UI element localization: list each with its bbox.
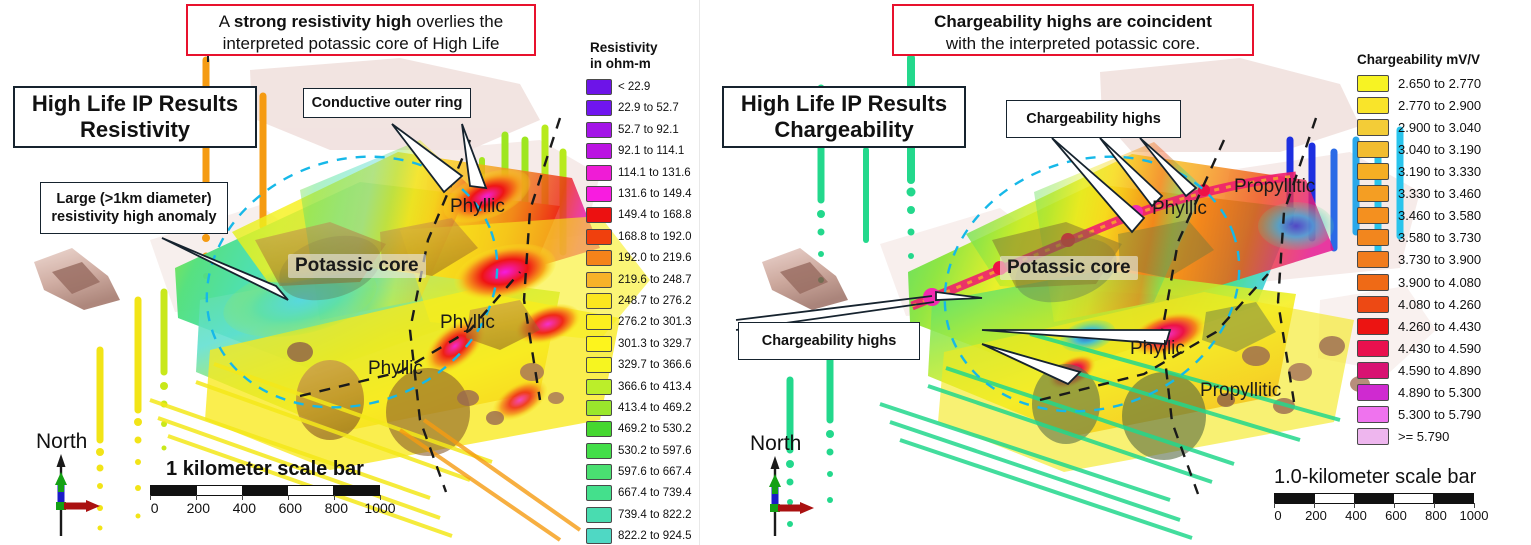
scene-label-propyllitic-upper: Propyllitic xyxy=(1234,176,1315,198)
scalebar-title: 1.0-kilometer scale bar xyxy=(1274,466,1474,489)
legend-swatch xyxy=(586,122,612,138)
legend-label: 192.0 to 219.6 xyxy=(618,252,692,264)
legend-row: 4.590 to 4.890 xyxy=(1357,359,1481,381)
scene-label-phyllic-mid: Phyllic xyxy=(440,312,495,334)
legend-title: Resistivity in ohm-m xyxy=(590,40,700,72)
resistivity-legend: Resistivity in ohm-m < 22.922.9 to 52.75… xyxy=(586,40,700,545)
callout-text-bold: strong resistivity high xyxy=(234,12,412,31)
legend-row: 4.890 to 5.300 xyxy=(1357,382,1481,404)
legend-title: Chargeability mV/V xyxy=(1357,52,1481,68)
legend-row: 248.7 to 276.2 xyxy=(586,290,700,311)
legend-row: 413.4 to 469.2 xyxy=(586,397,700,418)
legend-swatch xyxy=(1357,119,1389,136)
annotation-chargeability-highs-upper: Chargeability highs xyxy=(1006,100,1181,138)
legend-swatch xyxy=(1357,406,1389,423)
legend-swatch xyxy=(1357,97,1389,114)
legend-swatch xyxy=(586,357,612,373)
legend-swatch xyxy=(1357,185,1389,202)
callout-text-line2: with the interpreted potassic core. xyxy=(946,34,1200,53)
legend-label: 168.8 to 192.0 xyxy=(618,231,692,243)
legend-swatch xyxy=(586,272,612,288)
legend-row: 92.1 to 114.1 xyxy=(586,141,700,162)
legend-swatch xyxy=(586,400,612,416)
scene-label-phyllic-lower: Phyllic xyxy=(1130,338,1185,360)
legend-swatch xyxy=(586,379,612,395)
legend-label: 5.300 to 5.790 xyxy=(1398,407,1481,422)
scalebar-chargeability: 1.0-kilometer scale bar 0 200 400 600 80 xyxy=(1274,466,1474,524)
legend-swatch xyxy=(1357,384,1389,401)
legend-swatch xyxy=(586,528,612,544)
scalebar-tick-label: 0 xyxy=(1274,508,1281,523)
scalebar-tick-label: 800 xyxy=(1425,508,1447,523)
legend-label: 4.430 to 4.590 xyxy=(1398,341,1481,356)
callout-text-part2: overlies the xyxy=(412,12,504,31)
legend-row: 3.580 to 3.730 xyxy=(1357,227,1481,249)
legend-label: < 22.9 xyxy=(618,81,650,93)
scalebar-tick-label: 400 xyxy=(1345,508,1367,523)
legend-rows: 2.650 to 2.7702.770 to 2.9002.900 to 3.0… xyxy=(1357,72,1481,448)
scene-label-potassic-core: Potassic core xyxy=(1000,256,1138,280)
title-line-2: Chargeability xyxy=(774,117,913,142)
legend-swatch xyxy=(1357,251,1389,268)
legend-label: 114.1 to 131.6 xyxy=(618,167,691,179)
legend-label: 739.4 to 822.2 xyxy=(618,509,692,521)
legend-row: < 22.9 xyxy=(586,76,700,97)
legend-row: 3.330 to 3.460 xyxy=(1357,183,1481,205)
callout-text-line2: interpreted potassic core of High Life xyxy=(223,34,500,53)
legend-swatch xyxy=(1357,428,1389,445)
resistivity-title: High Life IP Results Resistivity xyxy=(32,91,238,144)
resistivity-panel: A strong resistivity high overlies the i… xyxy=(0,0,700,545)
legend-label: 667.4 to 739.4 xyxy=(618,487,692,499)
scene-label-phyllic-upper: Phyllic xyxy=(450,196,505,218)
legend-row: 530.2 to 597.6 xyxy=(586,440,700,461)
legend-swatch xyxy=(586,421,612,437)
legend-label: 530.2 to 597.6 xyxy=(618,445,692,457)
legend-row: 131.6 to 149.4 xyxy=(586,183,700,204)
legend-label: 3.330 to 3.460 xyxy=(1398,186,1481,201)
legend-swatch xyxy=(1357,362,1389,379)
legend-swatch xyxy=(586,186,612,202)
legend-row: 667.4 to 739.4 xyxy=(586,483,700,504)
scalebar-ticks: 0 200 400 600 800 1000 xyxy=(150,498,380,516)
title-line-1: High Life IP Results xyxy=(741,91,947,116)
scalebar-tick-label: 600 xyxy=(1385,508,1407,523)
legend-swatch xyxy=(586,443,612,459)
annotation-label: Chargeability highs xyxy=(762,332,897,350)
legend-swatch xyxy=(1357,318,1389,335)
legend-label: >= 5.790 xyxy=(1398,429,1449,444)
legend-swatch xyxy=(586,336,612,352)
legend-label: 3.040 to 3.190 xyxy=(1398,142,1481,157)
legend-swatch xyxy=(1357,340,1389,357)
title-line-1: High Life IP Results xyxy=(32,91,238,116)
chargeability-title: High Life IP Results Chargeability xyxy=(741,91,947,144)
legend-label: 3.460 to 3.580 xyxy=(1398,208,1481,223)
legend-swatch xyxy=(586,250,612,266)
legend-label: 248.7 to 276.2 xyxy=(618,295,692,307)
legend-swatch xyxy=(586,464,612,480)
legend-label: 469.2 to 530.2 xyxy=(618,423,692,435)
scalebar-tick-label: 400 xyxy=(233,500,256,516)
legend-label: 4.080 to 4.260 xyxy=(1398,297,1481,312)
annotation-chargeability-highs-lower: Chargeability highs xyxy=(738,322,920,360)
callout-text-part1: A xyxy=(219,12,234,31)
legend-row: 4.430 to 4.590 xyxy=(1357,337,1481,359)
legend-row: >= 5.790 xyxy=(1357,426,1481,448)
annotation-line-1: Large (>1km diameter) xyxy=(56,191,211,207)
legend-row: 4.260 to 4.430 xyxy=(1357,315,1481,337)
annotation-resistivity-high-anomaly: Large (>1km diameter) resistivity high a… xyxy=(40,182,228,234)
legend-row: 4.080 to 4.260 xyxy=(1357,293,1481,315)
resistivity-callout: A strong resistivity high overlies the i… xyxy=(186,4,536,56)
legend-swatch xyxy=(586,293,612,309)
legend-label: 3.900 to 4.080 xyxy=(1398,275,1481,290)
legend-label: 219.6 to 248.7 xyxy=(618,274,692,286)
scalebar-tick-label: 200 xyxy=(187,500,210,516)
legend-label: 3.730 to 3.900 xyxy=(1398,252,1481,267)
legend-rows: < 22.922.9 to 52.752.7 to 92.192.1 to 11… xyxy=(586,76,700,545)
legend-swatch xyxy=(586,143,612,159)
title-line-2: Resistivity xyxy=(80,117,190,142)
chargeability-title-box: High Life IP Results Chargeability xyxy=(722,86,966,148)
legend-row: 366.6 to 413.4 xyxy=(586,376,700,397)
legend-row: 739.4 to 822.2 xyxy=(586,504,700,525)
north-arrow-chargeability: North xyxy=(742,430,862,540)
legend-swatch xyxy=(1357,207,1389,224)
legend-label: 4.260 to 4.430 xyxy=(1398,319,1481,334)
legend-label: 597.6 to 667.4 xyxy=(618,466,692,478)
legend-row: 52.7 to 92.1 xyxy=(586,119,700,140)
legend-row: 114.1 to 131.6 xyxy=(586,162,700,183)
scalebar-ticks: 0 200 400 600 800 1000 xyxy=(1274,506,1474,524)
legend-label: 2.650 to 2.770 xyxy=(1398,76,1481,91)
legend-row: 3.730 to 3.900 xyxy=(1357,249,1481,271)
legend-swatch xyxy=(1357,163,1389,180)
legend-row: 301.3 to 329.7 xyxy=(586,333,700,354)
legend-row: 5.300 to 5.790 xyxy=(1357,404,1481,426)
legend-label: 149.4 to 168.8 xyxy=(618,209,692,221)
north-label: North xyxy=(36,430,87,454)
legend-row: 276.2 to 301.3 xyxy=(586,312,700,333)
legend-swatch xyxy=(586,165,612,181)
legend-row: 192.0 to 219.6 xyxy=(586,248,700,269)
scalebar-title: 1 kilometer scale bar xyxy=(150,458,380,481)
legend-title-line2: in ohm-m xyxy=(590,56,651,71)
scalebar-tick-label: 0 xyxy=(151,500,159,516)
annotation-label: Chargeability highs xyxy=(1026,110,1161,128)
legend-label: 22.9 to 52.7 xyxy=(618,102,679,114)
legend-swatch xyxy=(1357,229,1389,246)
north-arrow-resistivity: North xyxy=(28,430,148,540)
scalebar-resistivity: 1 kilometer scale bar 0 200 400 600 800 xyxy=(150,458,380,516)
legend-row: 3.190 to 3.330 xyxy=(1357,161,1481,183)
scene-label-phyllic-lower: Phyllic xyxy=(368,358,423,380)
legend-swatch xyxy=(586,314,612,330)
legend-label: 329.7 to 366.6 xyxy=(618,359,692,371)
scalebar-bar xyxy=(150,485,380,496)
legend-label: 4.590 to 4.890 xyxy=(1398,363,1481,378)
resistivity-title-box: High Life IP Results Resistivity xyxy=(13,86,257,148)
legend-label: 366.6 to 413.4 xyxy=(618,381,692,393)
legend-row: 597.6 to 667.4 xyxy=(586,461,700,482)
legend-swatch xyxy=(1357,274,1389,291)
legend-row: 168.8 to 192.0 xyxy=(586,226,700,247)
legend-label: 2.900 to 3.040 xyxy=(1398,120,1481,135)
legend-row: 149.4 to 168.8 xyxy=(586,205,700,226)
legend-row: 329.7 to 366.6 xyxy=(586,354,700,375)
legend-row: 22.9 to 52.7 xyxy=(586,98,700,119)
scene-label-potassic-core: Potassic core xyxy=(288,254,426,278)
annotation-label: Conductive outer ring xyxy=(312,94,463,112)
legend-row: 2.900 to 3.040 xyxy=(1357,116,1481,138)
legend-label: 3.190 to 3.330 xyxy=(1398,164,1481,179)
scalebar-tick-label: 1000 xyxy=(364,500,395,516)
legend-label: 131.6 to 149.4 xyxy=(618,188,692,200)
scene-label-phyllic-upper: Phyllic xyxy=(1152,198,1207,220)
legend-label: 276.2 to 301.3 xyxy=(618,316,692,328)
scalebar-tick-label: 1000 xyxy=(1460,508,1489,523)
scalebar-bar xyxy=(1274,493,1474,504)
legend-swatch xyxy=(586,229,612,245)
scene-label-propyllitic-lower: Propyllitic xyxy=(1200,380,1281,402)
chargeability-callout: Chargeability highs are coincident with … xyxy=(892,4,1254,56)
scalebar-tick-label: 600 xyxy=(279,500,302,516)
legend-row: 3.040 to 3.190 xyxy=(1357,138,1481,160)
legend-label: 301.3 to 329.7 xyxy=(618,338,692,350)
callout-text-bold: Chargeability highs are coincident xyxy=(934,12,1212,31)
legend-swatch xyxy=(586,485,612,501)
legend-swatch xyxy=(586,207,612,223)
annotation-line-2: resistivity high anomaly xyxy=(51,209,216,225)
legend-row: 2.650 to 2.770 xyxy=(1357,72,1481,94)
legend-label: 3.580 to 3.730 xyxy=(1398,230,1481,245)
legend-swatch xyxy=(1357,296,1389,313)
legend-swatch xyxy=(1357,75,1389,92)
legend-title-line1: Resistivity xyxy=(590,40,658,55)
north-label: North xyxy=(750,432,801,456)
legend-label: 2.770 to 2.900 xyxy=(1398,98,1481,113)
chargeability-legend: Chargeability mV/V 2.650 to 2.7702.770 t… xyxy=(1357,52,1481,448)
ip-results-figure: A strong resistivity high overlies the i… xyxy=(0,0,1531,545)
legend-row: 469.2 to 530.2 xyxy=(586,419,700,440)
legend-swatch xyxy=(586,100,612,116)
legend-label: 822.2 to 924.5 xyxy=(618,530,692,542)
legend-row: 822.2 to 924.5 xyxy=(586,526,700,545)
legend-label: 52.7 to 92.1 xyxy=(618,124,679,136)
legend-row: 219.6 to 248.7 xyxy=(586,269,700,290)
legend-row: 2.770 to 2.900 xyxy=(1357,94,1481,116)
annotation-conductive-outer-ring: Conductive outer ring xyxy=(303,88,471,118)
legend-label: 413.4 to 469.2 xyxy=(618,402,692,414)
legend-row: 3.460 to 3.580 xyxy=(1357,205,1481,227)
scalebar-tick-label: 200 xyxy=(1305,508,1327,523)
legend-swatch xyxy=(586,79,612,95)
annotation-label: Large (>1km diameter) resistivity high a… xyxy=(51,190,216,226)
legend-swatch xyxy=(586,507,612,523)
legend-row: 3.900 to 4.080 xyxy=(1357,271,1481,293)
legend-label: 4.890 to 5.300 xyxy=(1398,385,1481,400)
legend-label: 92.1 to 114.1 xyxy=(618,145,684,157)
legend-swatch xyxy=(1357,141,1389,158)
scalebar-tick-label: 800 xyxy=(325,500,348,516)
